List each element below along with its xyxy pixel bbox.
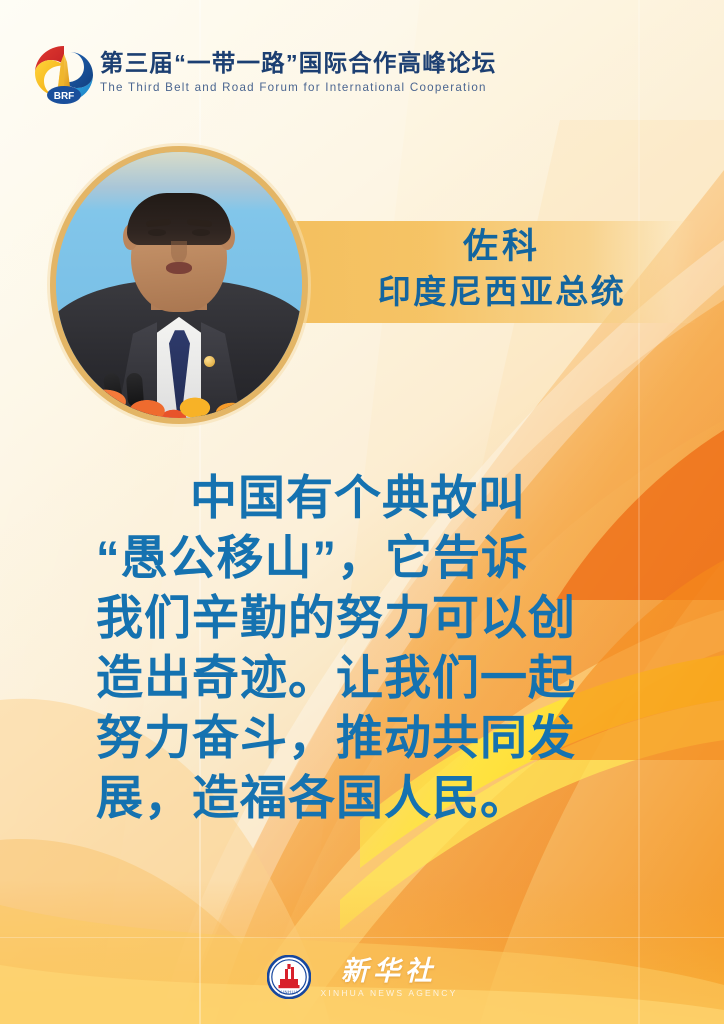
speaker-name-block: 佐科 印度尼西亚总统 [300,225,704,315]
forum-title-en: The Third Belt and Road Forum for Intern… [100,80,496,96]
xinhua-wordmark: 新华社 XINHUA NEWS AGENCY [321,956,458,999]
xinhua-name-cn: 新华社 [341,956,437,986]
quote-line-1: 中国有个典故叫 [96,468,628,528]
quote-line-5: 努力奋斗，推动共同发 [96,708,628,768]
header-text-block: 第三届“一带一路”国际合作高峰论坛 The Third Belt and Roa… [100,48,496,96]
speaker-title: 印度尼西亚总统 [300,269,704,315]
brf-logo-icon: BRF [30,42,100,106]
portrait-hair [127,193,231,245]
brf-logo: BRF [30,42,100,106]
xinhua-emblem: XINHUA [267,955,311,999]
portrait-mouth [166,262,192,274]
quote-line-6: 展，造福各国人民。 [96,768,628,828]
quote-line-2: “愚公移山”，它告诉 [96,528,628,588]
portrait-flowers [56,371,302,418]
svg-text:XINHUA: XINHUA [279,990,298,995]
quote-block: 中国有个典故叫 “愚公移山”，它告诉 我们辛勤的努力可以创 造出奇迹。让我们一起… [96,468,628,828]
quote-line-4: 造出奇迹。让我们一起 [96,648,628,708]
footer-branding: XINHUA 新华社 XINHUA NEWS AGENCY [0,948,724,1006]
speaker-portrait [56,152,302,418]
portrait-nose [171,241,187,263]
quote-line-3: 我们辛勤的努力可以创 [96,588,628,648]
speaker-name: 佐科 [300,225,704,269]
svg-text:BRF: BRF [54,91,75,102]
forum-title-cn: 第三届“一带一路”国际合作高峰论坛 [100,48,496,78]
forum-header: BRF 第三届“一带一路”国际合作高峰论坛 The Third Belt and… [0,0,724,118]
xinhua-name-en: XINHUA NEWS AGENCY [321,987,458,999]
poster-canvas: BRF 第三届“一带一路”国际合作高峰论坛 The Third Belt and… [0,0,724,1024]
xinhua-logo-icon: XINHUA [267,955,311,999]
